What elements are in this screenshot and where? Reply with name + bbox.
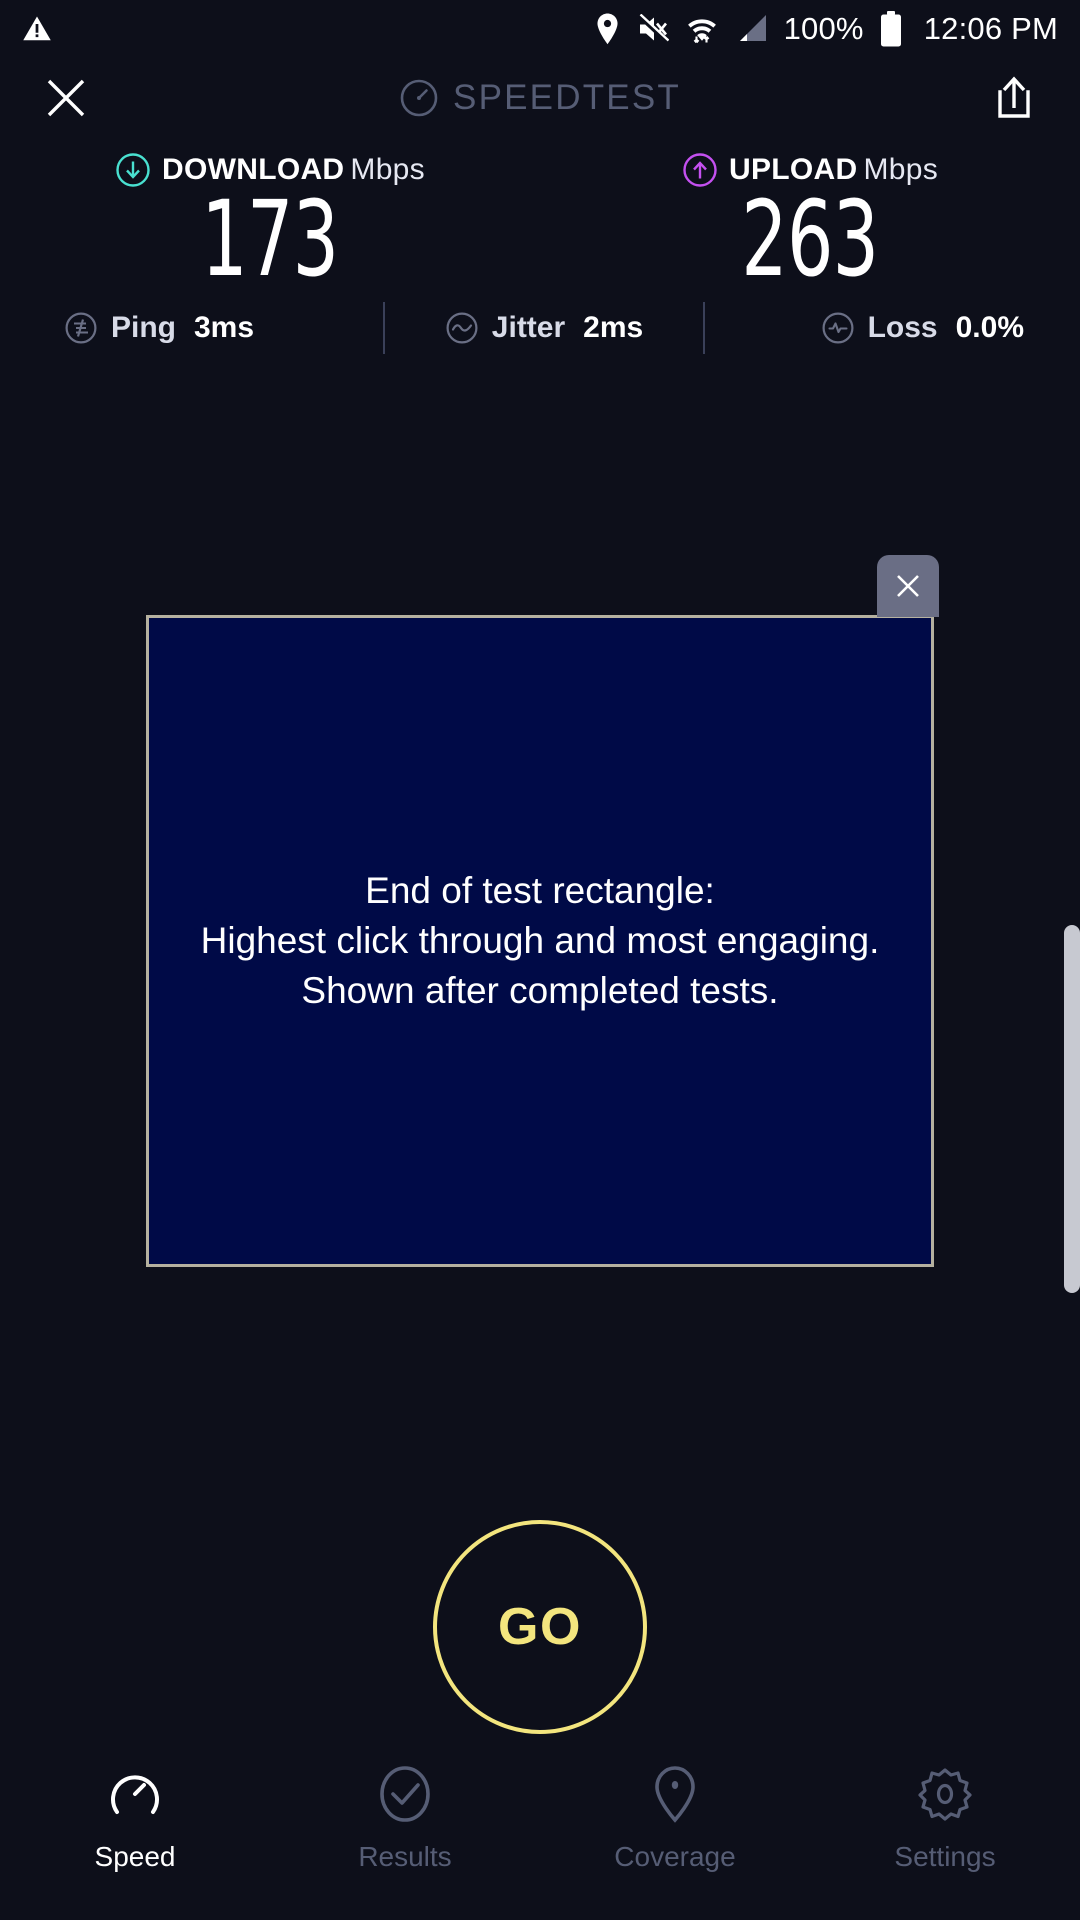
ping-icon xyxy=(64,311,98,345)
go-button[interactable]: GO xyxy=(433,1520,647,1734)
loss-metric: Loss 0.0% xyxy=(705,311,1032,345)
status-bar-clock: 12:06 PM xyxy=(924,11,1058,47)
speedometer-icon xyxy=(399,78,439,118)
location-pin-icon xyxy=(594,13,621,45)
loss-icon xyxy=(821,311,855,345)
cellular-signal-icon xyxy=(735,14,768,44)
nav-item-results[interactable]: Results xyxy=(270,1764,540,1873)
download-arrow-icon xyxy=(115,152,151,188)
ad-close-button[interactable] xyxy=(877,555,939,617)
ad-text: End of test rectangle: Highest click thr… xyxy=(201,866,880,1017)
ping-value: 3ms xyxy=(194,311,254,345)
ping-metric: Ping 3ms xyxy=(48,311,383,345)
speedometer-icon xyxy=(105,1764,165,1824)
check-circle-icon xyxy=(375,1764,435,1824)
status-bar-right: 100% 12:06 PM xyxy=(594,11,1058,47)
battery-percent-label: 100% xyxy=(784,11,864,47)
status-bar: 100% 12:06 PM xyxy=(0,0,1080,58)
status-bar-left xyxy=(22,14,52,44)
upload-value: 263 xyxy=(742,186,879,292)
scrollbar[interactable] xyxy=(1064,925,1080,1293)
results-summary: DOWNLOADMbps 173 UPLOADMbps 263 xyxy=(0,138,1080,354)
go-button-wrap: GO xyxy=(0,1520,1080,1734)
bottom-navigation: Speed Results Coverage Settings xyxy=(0,1750,1080,1920)
download-metric: DOWNLOADMbps 173 xyxy=(0,152,540,292)
map-pin-icon xyxy=(645,1764,705,1824)
advertisement-banner[interactable]: End of test rectangle: Highest click thr… xyxy=(146,615,934,1267)
nav-item-settings[interactable]: Settings xyxy=(810,1764,1080,1873)
upload-metric: UPLOADMbps 263 xyxy=(540,152,1080,292)
nav-label-speed: Speed xyxy=(95,1841,176,1873)
jitter-value: 2ms xyxy=(583,311,643,345)
battery-full-icon xyxy=(880,11,902,47)
download-upload-row: DOWNLOADMbps 173 UPLOADMbps 263 xyxy=(0,152,1080,292)
share-button[interactable] xyxy=(986,70,1042,126)
jitter-label: Jitter xyxy=(492,311,565,345)
ping-jitter-loss-row: Ping 3ms Jitter 2ms Loss 0.0% xyxy=(0,302,1080,354)
gear-icon xyxy=(915,1764,975,1824)
wifi-icon xyxy=(685,13,719,45)
volume-mute-icon xyxy=(637,14,669,44)
nav-label-results: Results xyxy=(358,1841,451,1873)
nav-item-coverage[interactable]: Coverage xyxy=(540,1764,810,1873)
loss-value: 0.0% xyxy=(956,311,1024,345)
brand-title: SPEEDTEST xyxy=(453,78,681,118)
warning-triangle-icon xyxy=(22,14,52,44)
jitter-icon xyxy=(445,311,479,345)
download-value: 173 xyxy=(202,186,339,292)
app-header: SPEEDTEST xyxy=(0,58,1080,138)
nav-label-coverage: Coverage xyxy=(614,1841,735,1873)
loss-label: Loss xyxy=(868,311,938,345)
nav-label-settings: Settings xyxy=(894,1841,995,1873)
nav-item-speed[interactable]: Speed xyxy=(0,1764,270,1873)
go-button-label: GO xyxy=(498,1597,582,1657)
brand-logo: SPEEDTEST xyxy=(0,78,1080,118)
upload-arrow-icon xyxy=(682,152,718,188)
jitter-metric: Jitter 2ms xyxy=(385,311,704,345)
ping-label: Ping xyxy=(111,311,176,345)
close-button[interactable] xyxy=(38,70,94,126)
